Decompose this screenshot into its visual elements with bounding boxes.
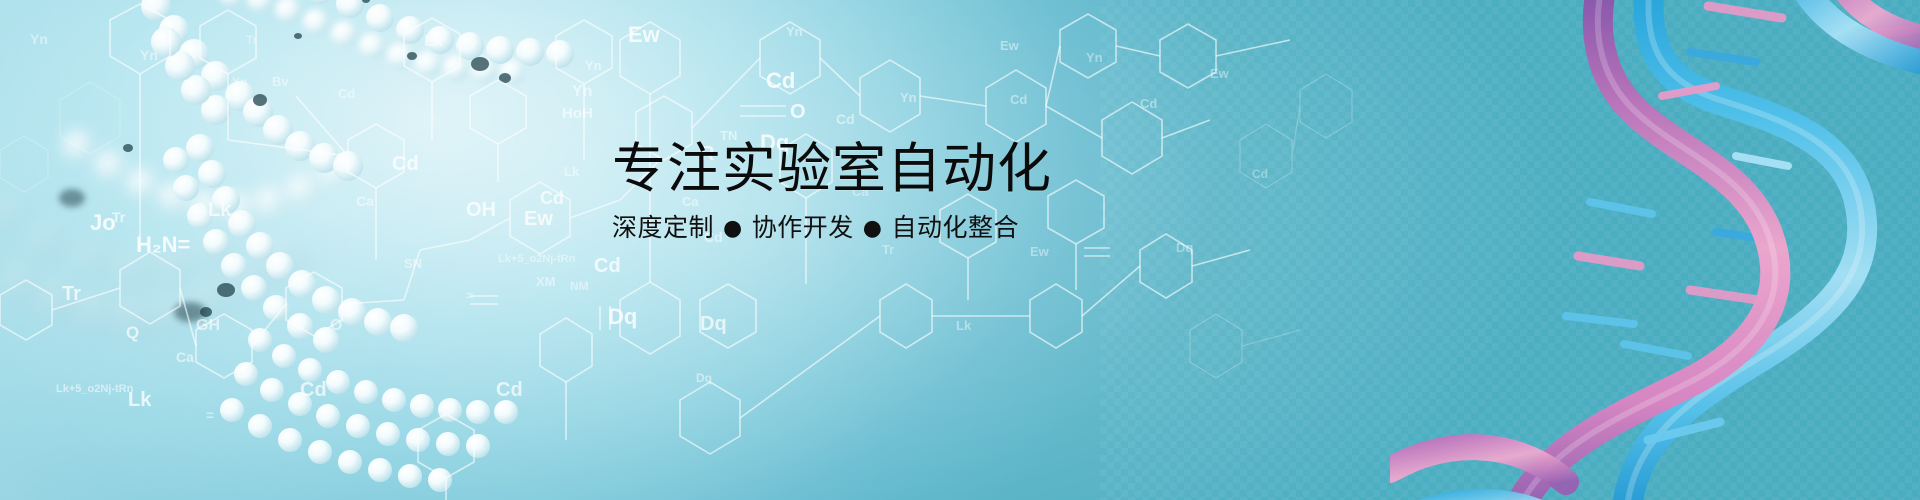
svg-text:Yn: Yn	[585, 58, 602, 73]
svg-text:Tr: Tr	[62, 283, 81, 305]
svg-text:=: =	[206, 407, 214, 423]
svg-text:OH: OH	[466, 199, 496, 221]
svg-text:Lk+5_o2Nj-tRn: Lk+5_o2Nj-tRn	[498, 253, 576, 265]
svg-text:Yn: Yn	[900, 90, 917, 105]
svg-text:HoH: HoH	[562, 105, 593, 122]
subtitle-item-3: 自动化整合	[891, 213, 1019, 242]
svg-text:Lk+5_o2Nj-tRn: Lk+5_o2Nj-tRn	[56, 383, 134, 395]
svg-text:Tr: Tr	[882, 242, 894, 257]
svg-text:Lk: Lk	[564, 164, 580, 179]
svg-text:Bv: Bv	[272, 74, 289, 89]
svg-text:Cd: Cd	[1252, 167, 1268, 181]
svg-text:Lk: Lk	[956, 318, 972, 333]
svg-text:Yn: Yn	[1086, 50, 1103, 65]
svg-text:Ew: Ew	[1030, 244, 1050, 259]
svg-text:Yn: Yn	[30, 31, 48, 47]
svg-text:Cd: Cd	[338, 86, 355, 101]
svg-text:Tr: Tr	[112, 209, 126, 225]
svg-text:Ew: Ew	[628, 22, 661, 47]
subtitle-item-1: 深度定制	[612, 213, 714, 242]
page-title: 专注实验室自动化	[612, 140, 1212, 197]
svg-text:Cd: Cd	[1140, 96, 1157, 111]
svg-text:O: O	[790, 101, 806, 123]
svg-text:Yn: Yn	[140, 47, 158, 63]
svg-text:Lk: Lk	[208, 199, 232, 221]
svg-text:Ca: Ca	[356, 193, 374, 209]
banner-subtitle: 深度定制●协作开发●自动化整合	[612, 213, 1212, 243]
svg-text:GH: GH	[196, 317, 220, 334]
svg-text:=: =	[466, 288, 474, 303]
svg-text:O: O	[330, 317, 342, 334]
svg-text:Cd: Cd	[594, 255, 621, 277]
svg-text:Tr: Tr	[246, 33, 258, 47]
svg-text:Lk: Lk	[128, 389, 152, 411]
svg-text:Yn: Yn	[572, 83, 592, 100]
svg-text:Cd: Cd	[496, 379, 523, 401]
svg-text:Cd: Cd	[1010, 92, 1027, 107]
svg-text:Cd: Cd	[836, 111, 855, 127]
svg-text:Yn: Yn	[786, 24, 803, 39]
svg-text:Yn: Yn	[232, 75, 247, 89]
svg-text:Q: Q	[126, 323, 139, 342]
ribbon-dna-helix-graphic	[1390, 0, 1920, 500]
banner-copy-block: 专注实验室自动化 深度定制●协作开发●自动化整合	[612, 140, 1212, 243]
svg-text:Ew: Ew	[1210, 66, 1230, 81]
svg-text:NM: NM	[570, 279, 589, 293]
svg-text:Dq: Dq	[696, 371, 712, 385]
svg-text:Cd: Cd	[392, 153, 419, 175]
svg-text:Dq: Dq	[700, 313, 727, 335]
svg-text:Cd: Cd	[300, 379, 327, 401]
subtitle-separator-1: ●	[723, 218, 743, 240]
svg-text:Lk: Lk	[424, 33, 443, 50]
svg-text:Dq: Dq	[608, 304, 637, 329]
svg-text:H₂N=: H₂N=	[136, 232, 190, 257]
svg-text:Cd: Cd	[766, 68, 795, 93]
svg-text:Ew: Ew	[1000, 38, 1020, 53]
lab-automation-hero-banner: Ew Yn HoH Ew Lk+5_o2Nj-tRn Cd TN R Dq Yn…	[0, 0, 1920, 500]
svg-text:Ew: Ew	[524, 208, 553, 230]
subtitle-item-2: 协作开发	[752, 213, 854, 242]
svg-text:XM: XM	[536, 274, 556, 289]
svg-text:Ca: Ca	[176, 349, 194, 365]
svg-text:SN: SN	[404, 256, 422, 271]
svg-text:Cd: Cd	[540, 188, 564, 208]
subtitle-separator-2: ●	[863, 218, 883, 240]
